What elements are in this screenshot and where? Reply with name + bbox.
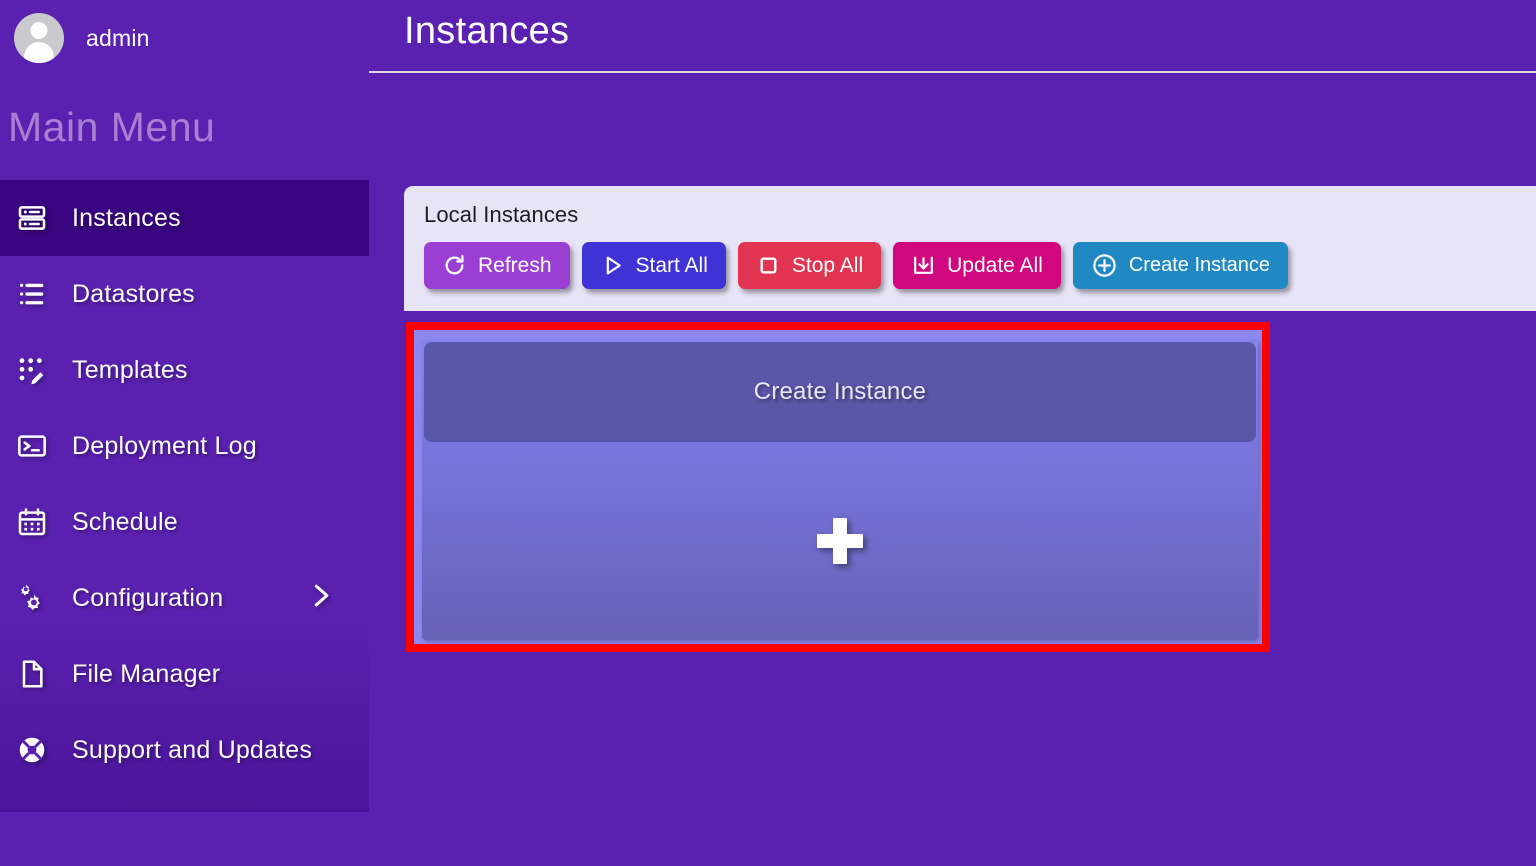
plus-icon[interactable] (817, 518, 863, 564)
stop-all-button[interactable]: Stop All (738, 242, 881, 289)
panel-title: Local Instances (424, 202, 1536, 228)
sidebar-item-deployment-log[interactable]: Deployment Log (0, 408, 369, 484)
plus-circle-icon (1091, 252, 1118, 279)
start-all-button[interactable]: Start All (582, 242, 726, 289)
stop-square-icon (756, 253, 781, 278)
sidebar-item-instances[interactable]: Instances (0, 180, 369, 256)
sidebar-item-templates[interactable]: Templates (0, 332, 369, 408)
sidebar-item-label: Instances (72, 204, 181, 233)
file-icon (14, 656, 50, 692)
play-icon (600, 253, 625, 278)
sidebar-item-schedule[interactable]: Schedule (0, 484, 369, 560)
terminal-icon (14, 428, 50, 464)
update-all-button[interactable]: Update All (893, 242, 1061, 289)
local-instances-panel: Local Instances Refresh Start All (404, 186, 1536, 311)
sidebar-item-label: Deployment Log (72, 432, 257, 461)
button-label: Refresh (478, 254, 552, 278)
download-tray-icon (911, 253, 936, 278)
sidebar-item-label: Configuration (72, 584, 223, 613)
username-label: admin (86, 25, 150, 52)
sidebar-item-label: Schedule (72, 508, 178, 537)
page-header: Instances (369, 0, 1536, 76)
button-label: Start All (636, 254, 708, 278)
create-instance-card-body[interactable] (422, 442, 1258, 640)
gears-icon (14, 580, 50, 616)
create-instance-button[interactable]: Create Instance (1073, 242, 1288, 289)
header-divider (369, 71, 1536, 73)
button-label: Create Instance (1129, 254, 1270, 277)
sidebar-item-label: File Manager (72, 660, 220, 689)
create-instance-card[interactable]: Create Instance (422, 340, 1258, 640)
database-list-icon (14, 276, 50, 312)
sidebar-item-configuration[interactable]: Configuration (0, 560, 369, 636)
calendar-icon (14, 504, 50, 540)
sidebar-item-label: Support and Updates (72, 736, 312, 765)
server-rack-icon (14, 200, 50, 236)
refresh-button[interactable]: Refresh (424, 242, 570, 289)
lifebuoy-icon (14, 732, 50, 768)
page-title: Instances (404, 10, 569, 53)
sidebar-nav: Instances Datastores (0, 180, 369, 788)
user-profile-row[interactable]: admin (0, 0, 369, 76)
create-instance-card-highlight: Create Instance (406, 322, 1270, 652)
sidebar-item-support-and-updates[interactable]: Support and Updates (0, 712, 369, 788)
avatar (14, 13, 64, 63)
template-edit-icon (14, 352, 50, 388)
refresh-icon (442, 253, 467, 278)
main-menu-heading: Main Menu (0, 76, 369, 151)
sidebar-item-file-manager[interactable]: File Manager (0, 636, 369, 712)
chevron-right-icon[interactable] (307, 579, 335, 618)
sidebar: admin Main Menu Instances (0, 0, 369, 812)
instances-toolbar: Refresh Start All Stop All (424, 242, 1536, 289)
card-title: Create Instance (754, 378, 926, 406)
sidebar-item-datastores[interactable]: Datastores (0, 256, 369, 332)
sidebar-item-label: Templates (72, 356, 188, 385)
button-label: Update All (947, 254, 1043, 278)
sidebar-item-label: Datastores (72, 280, 195, 309)
create-instance-card-header: Create Instance (424, 342, 1256, 442)
button-label: Stop All (792, 254, 863, 278)
